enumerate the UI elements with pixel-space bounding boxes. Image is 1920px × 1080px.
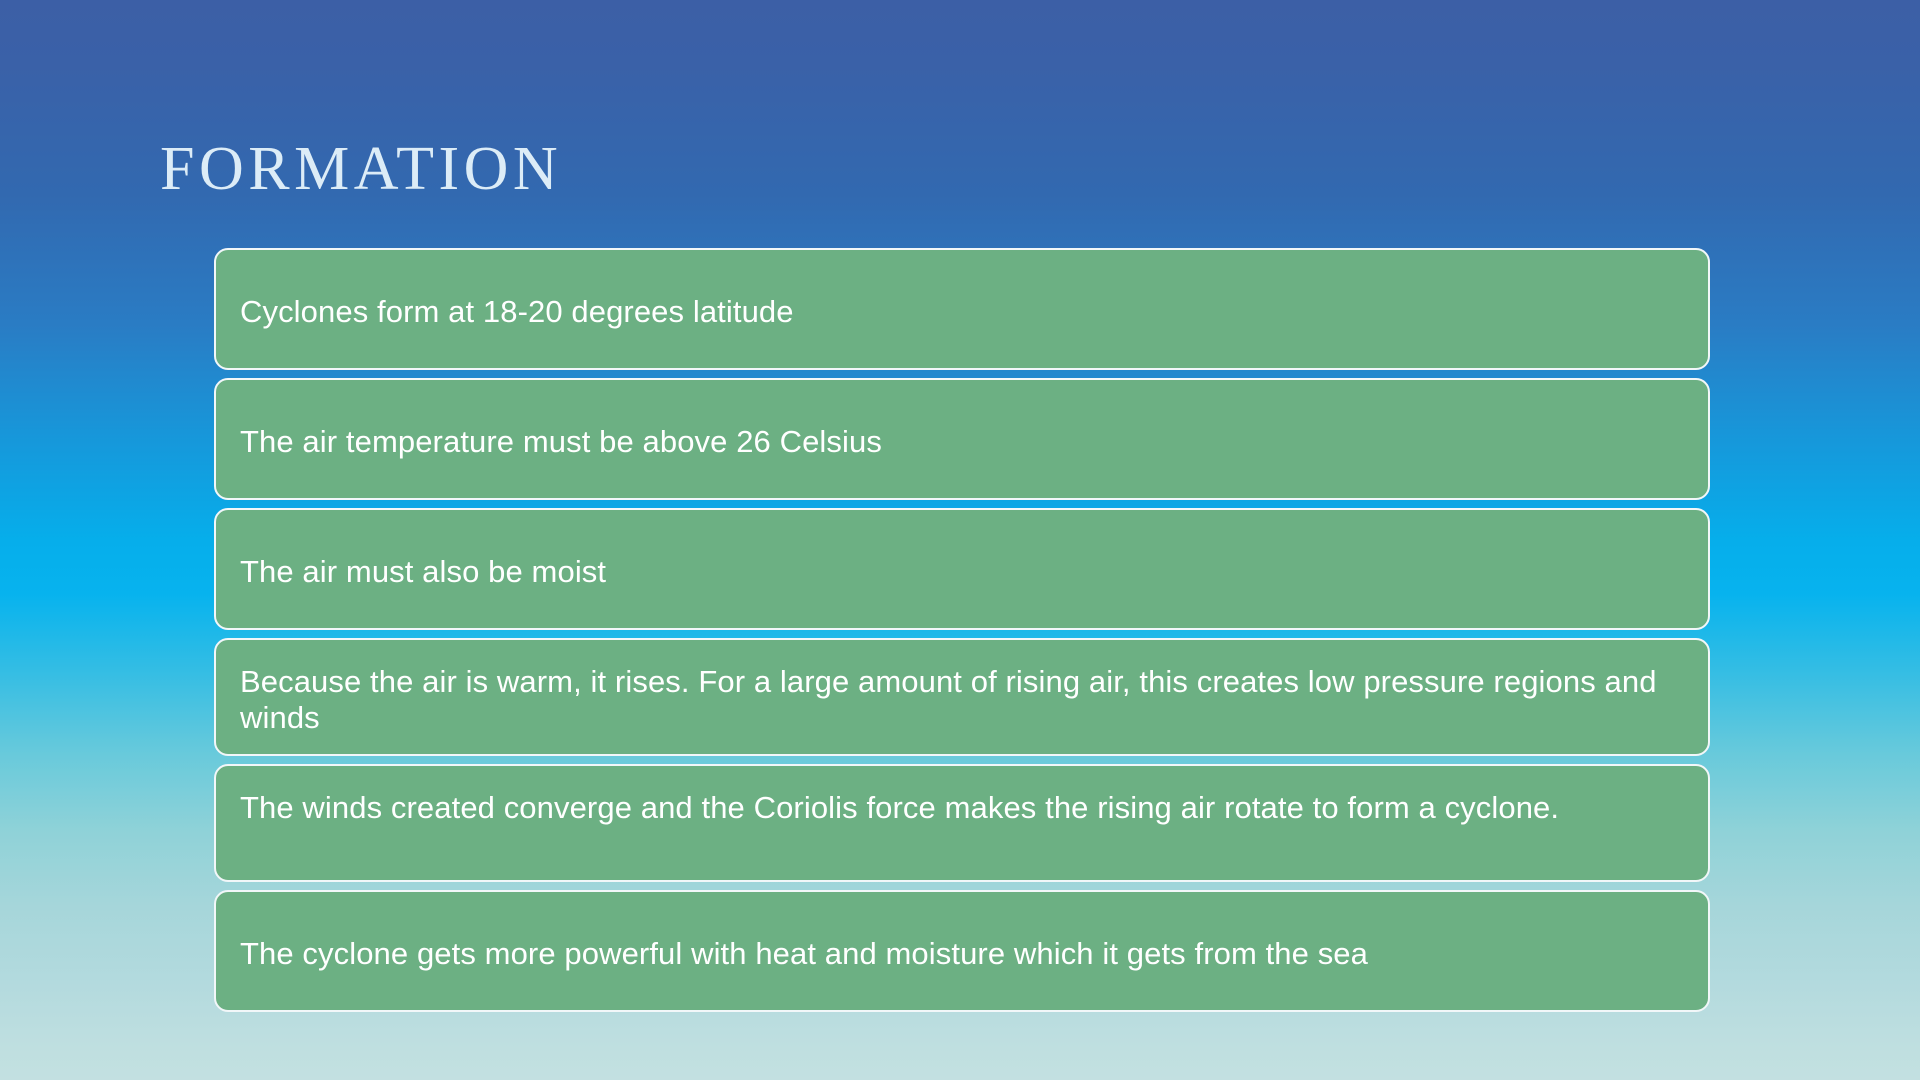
list-item[interactable]: The air must also be moist [214, 508, 1710, 630]
list-item[interactable]: Cyclones form at 18-20 degrees latitude [214, 248, 1710, 370]
list-item-label: The air must also be moist [216, 554, 1708, 590]
presentation-slide: FORMATION Cyclones form at 18-20 degrees… [0, 0, 1920, 1080]
list-item-label: The cyclone gets more powerful with heat… [216, 936, 1708, 972]
list-item-label: The air temperature must be above 26 Cel… [216, 424, 1708, 460]
list-item[interactable]: The winds created converge and the Corio… [214, 764, 1710, 882]
list-item[interactable]: The air temperature must be above 26 Cel… [214, 378, 1710, 500]
process-step-list: Cyclones form at 18-20 degrees latitude … [214, 248, 1710, 1012]
list-item-label: The winds created converge and the Corio… [216, 790, 1708, 826]
page-title: FORMATION [160, 138, 562, 200]
list-item[interactable]: Because the air is warm, it rises. For a… [214, 638, 1710, 756]
list-item-label: Cyclones form at 18-20 degrees latitude [216, 294, 1708, 330]
list-item[interactable]: The cyclone gets more powerful with heat… [214, 890, 1710, 1012]
list-item-label: Because the air is warm, it rises. For a… [216, 664, 1708, 737]
